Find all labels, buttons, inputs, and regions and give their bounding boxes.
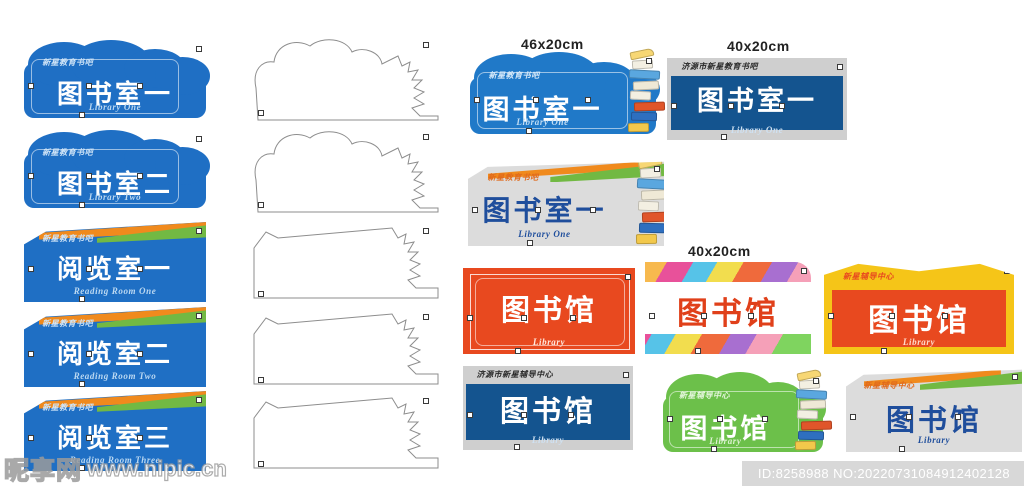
anchor-node[interactable] [585, 97, 591, 103]
watermark-nipic: 昵享网 www.nipic.cn [4, 454, 227, 484]
left_column-sign-1[interactable]: 新星教育书吧图书室二Library Two [24, 130, 206, 208]
anchor-node[interactable] [474, 97, 480, 103]
anchor-node[interactable] [646, 58, 652, 64]
outline-path-banner [252, 308, 442, 388]
anchor-node[interactable] [654, 166, 660, 172]
anchor-node[interactable] [423, 134, 429, 140]
anchor-node[interactable] [711, 446, 717, 452]
anchor-node[interactable] [467, 412, 473, 418]
anchor-node[interactable] [28, 266, 34, 272]
sign-title-en: Library Two [24, 192, 206, 202]
anchor-node[interactable] [837, 64, 843, 70]
anchor-node[interactable] [423, 42, 429, 48]
left_column-sign-2[interactable]: 新星教育书吧阅览室一Reading Room One [24, 222, 206, 302]
anchor-node[interactable] [695, 348, 701, 354]
sign-brand-text: 济源市新星教育书吧 [681, 61, 758, 72]
outline-path-cloud [252, 36, 442, 122]
anchor-node[interactable] [28, 435, 34, 441]
right_panel-sign-6[interactable]: 济源市新星辅导中心图书馆Library [463, 366, 633, 450]
anchor-node[interactable] [196, 313, 202, 319]
book-stack-icon [626, 60, 660, 132]
anchor-node[interactable] [28, 351, 34, 357]
anchor-node[interactable] [467, 315, 473, 321]
outline-path-banner [252, 392, 442, 472]
anchor-node[interactable] [568, 412, 574, 418]
anchor-node[interactable] [625, 274, 631, 280]
anchor-node[interactable] [623, 372, 629, 378]
anchor-node[interactable] [86, 83, 92, 89]
right_panel-sign-7[interactable]: 新星辅导中心图书馆Library [663, 372, 823, 452]
anchor-node[interactable] [423, 398, 429, 404]
right_panel-sign-2[interactable]: 新星教育书吧图书室一Library One [468, 160, 664, 246]
left_column-sign-3[interactable]: 新星教育书吧阅览室二Reading Room Two [24, 307, 206, 387]
watermark-url-text: www.nipic.cn [87, 456, 227, 482]
anchor-node[interactable] [671, 103, 677, 109]
anchor-node[interactable] [137, 83, 143, 89]
sign-title-zh: 图书室一 [667, 79, 847, 118]
anchor-node[interactable] [717, 416, 723, 422]
anchor-node[interactable] [667, 416, 673, 422]
anchor-node[interactable] [423, 228, 429, 234]
dimension-label-1: 40x20cm [727, 38, 790, 54]
anchor-node[interactable] [196, 228, 202, 234]
sign-brand-text: 新星教育书吧 [42, 402, 93, 413]
anchor-node[interactable] [79, 381, 85, 387]
anchor-node[interactable] [590, 207, 596, 213]
sign-brand-text: 新星辅导中心 [843, 271, 894, 282]
sign-title-en: Library [824, 337, 1014, 347]
watermark-brand-text: 昵享网 [4, 451, 82, 487]
sign-brand-text: 新星教育书吧 [42, 57, 93, 68]
anchor-node[interactable] [86, 351, 92, 357]
anchor-node[interactable] [258, 461, 264, 467]
anchor-node[interactable] [899, 446, 905, 452]
sign-title-zh: 图书馆 [463, 287, 635, 329]
anchor-node[interactable] [79, 202, 85, 208]
anchor-node[interactable] [258, 202, 264, 208]
anchor-node[interactable] [137, 266, 143, 272]
sign-title-en: Library One [24, 102, 206, 112]
anchor-node[interactable] [570, 315, 576, 321]
sign-title-zh: 图书馆 [846, 397, 1022, 439]
anchor-node[interactable] [521, 315, 527, 321]
anchor-node[interactable] [258, 291, 264, 297]
anchor-node[interactable] [721, 134, 727, 140]
anchor-node[interactable] [701, 313, 707, 319]
die-cut-outline-0[interactable] [252, 36, 442, 122]
anchor-node[interactable] [649, 313, 655, 319]
sign-brand-text: 新星教育书吧 [489, 70, 540, 81]
asset-id-badge: ID:8258988 NO:20220731084912402128 [742, 461, 1024, 486]
anchor-node[interactable] [762, 416, 768, 422]
anchor-node[interactable] [881, 348, 887, 354]
anchor-node[interactable] [196, 397, 202, 403]
sign-title-en: Reading Room One [24, 286, 206, 296]
dimension-label-2: 40x20cm [688, 243, 751, 259]
anchor-node[interactable] [514, 444, 520, 450]
sign-brand-text: 新星教育书吧 [488, 172, 539, 183]
anchor-node[interactable] [86, 435, 92, 441]
left_column-sign-0[interactable]: 新星教育书吧图书室一Library One [24, 40, 206, 118]
anchor-node[interactable] [521, 412, 527, 418]
anchor-node[interactable] [137, 351, 143, 357]
sign-title-zh: 阅览室三 [24, 418, 206, 455]
die-cut-outline-2[interactable] [252, 222, 442, 302]
sign-brand-text: 新星教育书吧 [42, 318, 93, 329]
outline-path-cloud [252, 128, 442, 214]
anchor-node[interactable] [1012, 374, 1018, 380]
anchor-node[interactable] [535, 207, 541, 213]
anchor-node[interactable] [86, 173, 92, 179]
anchor-node[interactable] [258, 377, 264, 383]
anchor-node[interactable] [748, 313, 754, 319]
right_panel-sign-4[interactable]: 图书馆 [645, 262, 811, 354]
anchor-node[interactable] [28, 173, 34, 179]
sign-title-en: Library [463, 435, 633, 445]
right_panel-sign-8[interactable]: 新星辅导中心图书馆Library [846, 368, 1022, 452]
anchor-node[interactable] [79, 296, 85, 302]
outline-path-banner [252, 222, 442, 302]
anchor-node[interactable] [942, 313, 948, 319]
sign-title-zh: 图书馆 [824, 295, 1014, 340]
anchor-node[interactable] [728, 103, 734, 109]
anchor-node[interactable] [79, 112, 85, 118]
anchor-node[interactable] [955, 414, 961, 420]
anchor-node[interactable] [828, 313, 834, 319]
sign-title-zh: 图书馆 [463, 388, 633, 430]
sign-title-en: Library [846, 435, 1022, 445]
sign-brand-text: 新星教育书吧 [42, 147, 93, 158]
dimension-label-0: 46x20cm [521, 36, 584, 52]
anchor-node[interactable] [813, 378, 819, 384]
sign-brand-text: 新星教育书吧 [42, 233, 93, 244]
anchor-node[interactable] [423, 314, 429, 320]
sign-title-en: Reading Room Two [24, 371, 206, 381]
anchor-node[interactable] [137, 173, 143, 179]
right_panel-sign-1[interactable]: 济源市新星教育书吧图书室一Library One [667, 58, 847, 140]
anchor-node[interactable] [527, 240, 533, 246]
anchor-node[interactable] [906, 414, 912, 420]
die-cut-outline-3[interactable] [252, 308, 442, 388]
sign-title-en: Library One [667, 125, 847, 135]
sign-title-en: Library [463, 337, 635, 347]
anchor-node[interactable] [28, 83, 34, 89]
anchor-node[interactable] [801, 268, 807, 274]
anchor-node[interactable] [196, 136, 202, 142]
sign-brand-text: 新星辅导中心 [864, 380, 915, 391]
sign-title-zh: 阅览室二 [24, 334, 206, 371]
sign-brand-text: 新星辅导中心 [679, 390, 730, 401]
sign-title-zh: 阅览室一 [24, 249, 206, 286]
anchor-node[interactable] [850, 414, 856, 420]
anchor-node[interactable] [779, 103, 785, 109]
anchor-node[interactable] [515, 348, 521, 354]
right_panel-sign-5[interactable]: 新星辅导中心图书馆Library [824, 262, 1014, 354]
right_panel-sign-3[interactable]: 图书馆Library [463, 268, 635, 354]
anchor-node[interactable] [137, 435, 143, 441]
anchor-node[interactable] [86, 266, 92, 272]
anchor-node[interactable] [196, 46, 202, 52]
anchor-node[interactable] [258, 110, 264, 116]
anchor-node[interactable] [889, 313, 895, 319]
book-stack-icon [634, 168, 668, 244]
right_panel-sign-0[interactable]: 新星教育书吧图书室一Library One [470, 52, 656, 134]
anchor-node[interactable] [526, 128, 532, 134]
die-cut-outline-1[interactable] [252, 128, 442, 214]
die-cut-outline-4[interactable] [252, 392, 442, 472]
anchor-node[interactable] [533, 97, 539, 103]
sign-brand-text: 济源市新星辅导中心 [477, 369, 554, 380]
book-stack-icon [793, 380, 827, 450]
anchor-node[interactable] [472, 207, 478, 213]
sign-title-zh: 图书馆 [645, 288, 811, 333]
